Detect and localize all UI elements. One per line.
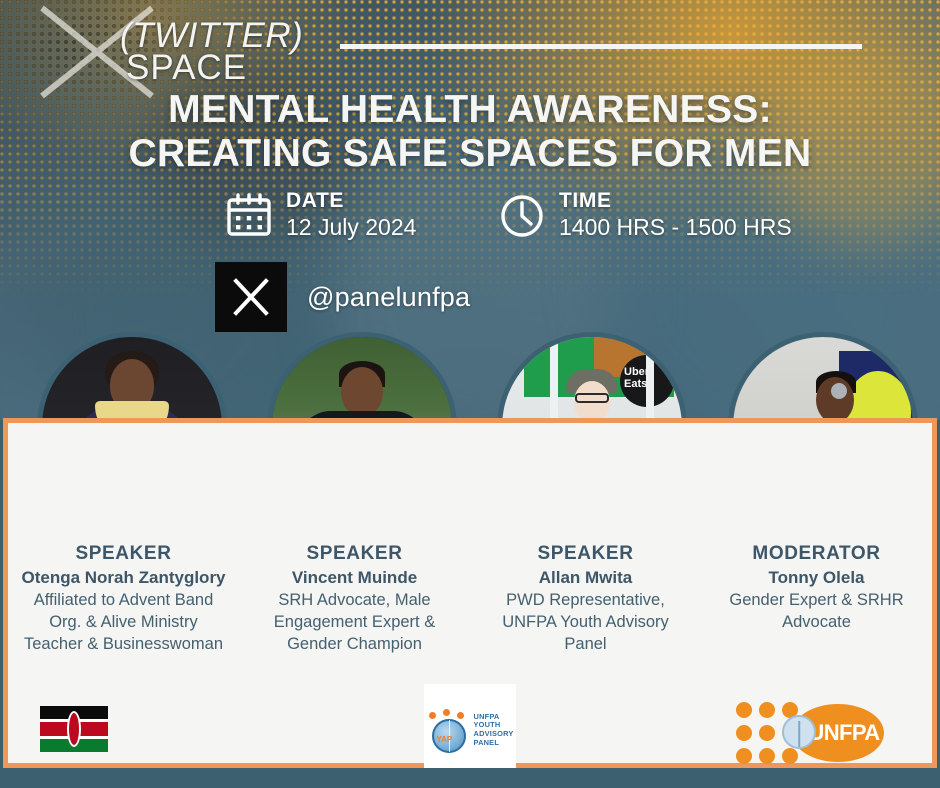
speaker-desc-line: PWD Representative, — [480, 590, 691, 612]
event-time: TIME 1400 HRS - 1500 HRS — [498, 190, 792, 241]
speaker-desc-line: Gender Expert & SRHR — [711, 590, 922, 612]
speaker-desc-line: UNFPA Youth Advisory — [480, 612, 691, 634]
speaker-desc-line: Gender Champion — [249, 634, 460, 656]
title-line-2: CREATING SAFE SPACES FOR MEN — [0, 132, 940, 176]
speaker-name: Otenga Norah Zantyglory — [18, 568, 229, 588]
speaker-desc: PWD Representative, UNFPA Youth Advisory… — [480, 590, 691, 655]
yap-line-4: PANEL — [474, 739, 514, 748]
un-emblem-icon — [782, 715, 816, 749]
event-date: DATE 12 July 2024 — [225, 190, 416, 241]
speaker-desc-line: Teacher & Businesswoman — [18, 634, 229, 656]
speaker-role: SPEAKER — [480, 543, 691, 565]
calendar-icon — [225, 192, 273, 240]
time-label: TIME — [559, 190, 792, 212]
speaker-role: SPEAKER — [18, 543, 229, 565]
speaker-desc-line: Affiliated to Advent Band — [18, 590, 229, 612]
event-poster: (TWITTER) SPACE MENTAL HEALTH AWARENESS:… — [0, 0, 940, 788]
speaker-role: SPEAKER — [249, 543, 460, 565]
list-item: SPEAKER Otenga Norah Zantyglory Affiliat… — [8, 543, 239, 655]
speaker-name: Allan Mwita — [480, 568, 691, 588]
unfpa-youth-advisory-panel-logo: YAP UNFPA YOUTH ADVISORY PANEL — [424, 684, 516, 776]
speaker-list: SPEAKER Otenga Norah Zantyglory Affiliat… — [8, 543, 932, 655]
speaker-name: Vincent Muinde — [249, 568, 460, 588]
header-divider-line — [340, 44, 862, 49]
speaker-desc-line: Panel — [480, 634, 691, 656]
speaker-desc: Gender Expert & SRHR Advocate — [711, 590, 922, 634]
speaker-name: Tonny Olela — [711, 568, 922, 588]
x-logo-icon[interactable] — [215, 262, 287, 332]
list-item: MODERATOR Tonny Olela Gender Expert & SR… — [701, 543, 932, 655]
poster-footer-strip — [0, 768, 940, 788]
unfpa-wordmark: UNFPA — [808, 720, 879, 746]
title-line-1: MENTAL HEALTH AWARENESS: — [168, 88, 772, 131]
twitter-space-branding: (TWITTER) SPACE — [24, 4, 324, 100]
unfpa-blob: UNFPA — [792, 704, 884, 762]
list-item: SPEAKER Allan Mwita PWD Representative, … — [470, 543, 701, 655]
speaker-desc-line: Org. & Alive Ministry — [18, 612, 229, 634]
page-title: MENTAL HEALTH AWARENESS: CREATING SAFE S… — [0, 88, 940, 177]
logo-row: YAP UNFPA YOUTH ADVISORY PANEL UNFPA — [0, 690, 940, 775]
handle-text: @panelunfpa — [307, 282, 470, 313]
unfpa-logo: UNFPA — [736, 704, 884, 762]
speaker-desc-line: SRH Advocate, Male — [249, 590, 460, 612]
list-item: SPEAKER Vincent Muinde SRH Advocate, Mal… — [239, 543, 470, 655]
speaker-desc: SRH Advocate, Male Engagement Expert & G… — [249, 590, 460, 655]
speaker-role: MODERATOR — [711, 543, 922, 565]
date-value: 12 July 2024 — [286, 214, 416, 241]
speaker-desc-line: Engagement Expert & — [249, 612, 460, 634]
brand-line-2: SPACE — [126, 52, 303, 84]
clock-icon — [498, 192, 546, 240]
speaker-desc: Affiliated to Advent Band Org. & Alive M… — [18, 590, 229, 655]
speaker-desc-line: Advocate — [711, 612, 922, 634]
time-value: 1400 HRS - 1500 HRS — [559, 214, 792, 241]
event-meta: DATE 12 July 2024 TIME 1400 HRS - 1500 H… — [0, 190, 940, 260]
social-handle[interactable]: @panelunfpa — [215, 262, 470, 332]
date-label: DATE — [286, 190, 416, 212]
kenya-flag-icon — [40, 706, 108, 752]
